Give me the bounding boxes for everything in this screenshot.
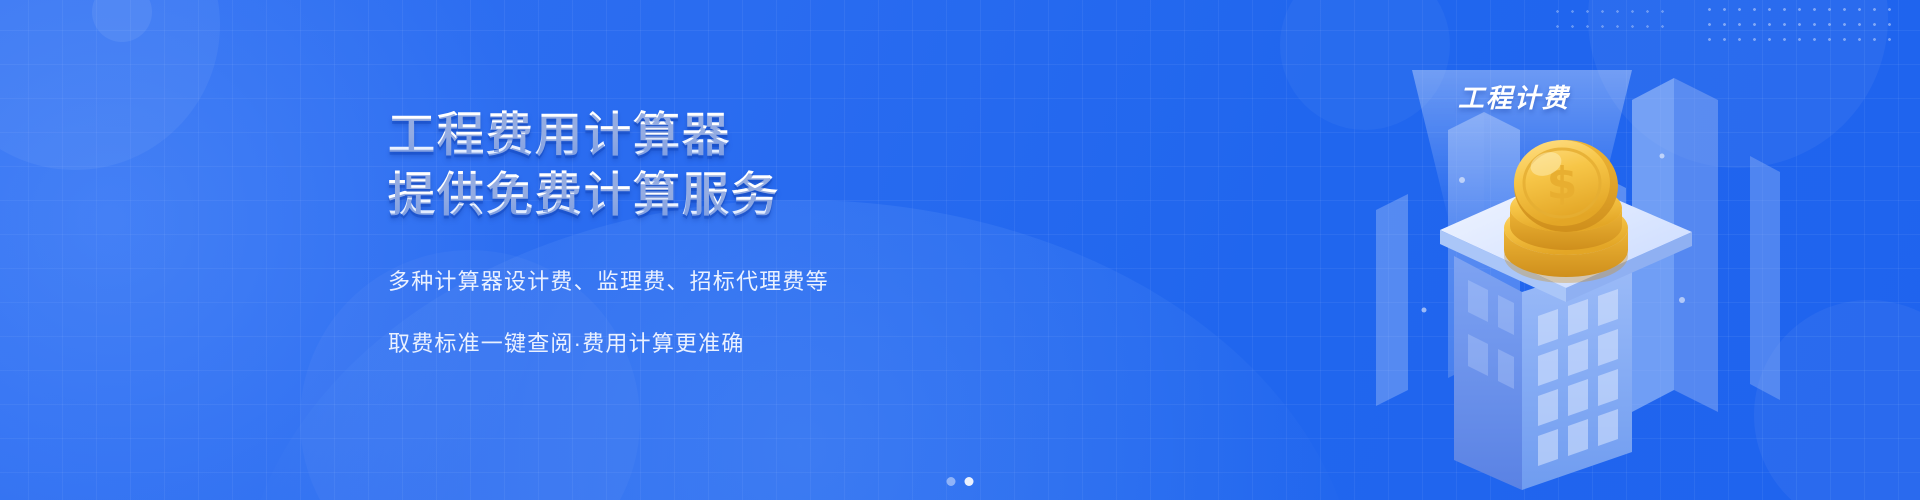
- banner-subtitle-line-2: 取费标准一键查阅·费用计算更准确: [388, 324, 948, 364]
- dot-grid-decoration-right: [1702, 2, 1892, 48]
- banner-copy-block: 工程费用计算器 提供免费计算服务 多种计算器设计费、监理费、招标代理费等 取费标…: [388, 108, 948, 386]
- illustration-badge-label: 工程计费: [1458, 78, 1570, 115]
- carousel-pagination[interactable]: [947, 477, 974, 486]
- banner-headline-line-1: 工程费用计算器: [388, 108, 948, 164]
- banner-headline-line-2: 提供免费计算服务: [388, 168, 948, 224]
- dot-grid-decoration-center-right: [1550, 4, 1670, 36]
- coin-stack: $: [1504, 140, 1628, 283]
- isometric-building-graphic: $: [1162, 60, 1862, 500]
- banner-subtitle-line-1: 多种计算器设计费、监理费、招标代理费等: [388, 262, 948, 302]
- hero-banner: 工程费用计算器 提供免费计算服务 多种计算器设计费、监理费、招标代理费等 取费标…: [0, 0, 1920, 500]
- isometric-illustration: $ 工程计费: [1162, 60, 1862, 500]
- carousel-dot-2[interactable]: [965, 477, 974, 486]
- carousel-dot-1[interactable]: [947, 477, 956, 486]
